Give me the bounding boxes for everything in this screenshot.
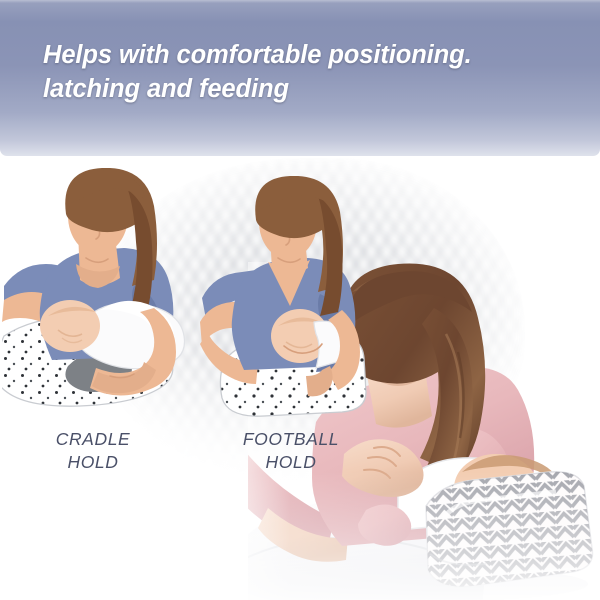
- product-feature-image: CRADLE HOLD FOOTBALL HOLD Helps with com…: [0, 0, 600, 600]
- headline-text: Helps with comfortable positioning. latc…: [43, 38, 573, 106]
- illustration-cradle-hold: [2, 168, 202, 418]
- illustration-football-hold: [196, 176, 381, 418]
- label-football-hold: FOOTBALL HOLD: [196, 428, 386, 474]
- headline-banner: Helps with comfortable positioning. latc…: [0, 0, 600, 156]
- headline-line-1: Helps with comfortable positioning.: [43, 38, 573, 72]
- headline-line-2: latching and feeding: [43, 72, 573, 106]
- label-cradle-hold: CRADLE HOLD: [0, 428, 186, 474]
- banner-top-highlight: [0, 0, 600, 3]
